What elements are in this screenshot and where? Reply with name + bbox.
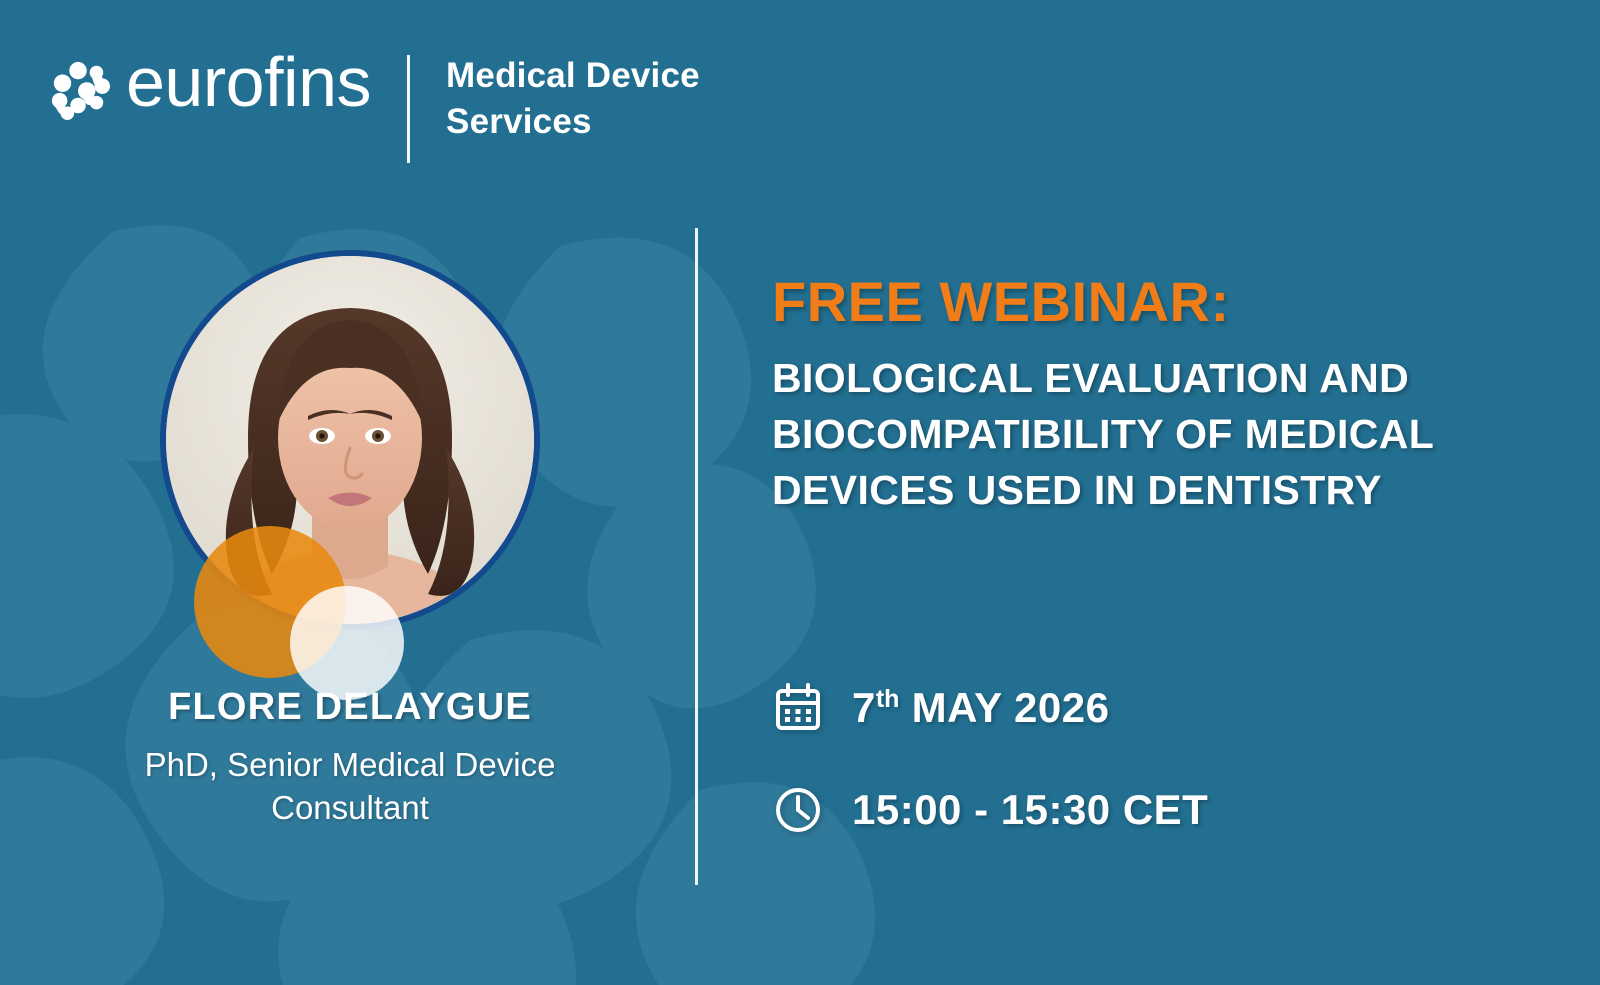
event-date-row: 7th MAY 2026 [772, 668, 1208, 748]
logo-divider [407, 55, 410, 163]
webinar-poster: eurofins Medical Device Services [0, 0, 1600, 985]
webinar-title-line-1: BIOLOGICAL EVALUATION AND [772, 350, 1532, 406]
division-name: Medical Device Services [446, 53, 700, 145]
eurofins-wordmark: eurofins [126, 45, 371, 119]
event-time-row: 15:00 - 15:30 CET [772, 770, 1208, 850]
event-time-text: 15:00 - 15:30 CET [852, 786, 1208, 834]
webinar-title-line-3: DEVICES USED IN DENTISTRY [772, 462, 1532, 518]
event-date-day: 7 [852, 684, 876, 731]
division-line-1: Medical Device [446, 53, 700, 99]
webinar-title: BIOLOGICAL EVALUATION AND BIOCOMPATIBILI… [772, 350, 1532, 518]
speaker-role-line-2: Consultant [60, 786, 640, 829]
speaker-role: PhD, Senior Medical Device Consultant [60, 743, 640, 829]
calendar-icon [772, 682, 824, 734]
free-webinar-eyebrow: FREE WEBINAR: [772, 272, 1532, 332]
event-details: 7th MAY 2026 15:00 - 15:30 CET [772, 668, 1208, 850]
brand-header: eurofins Medical Device Services [48, 45, 700, 163]
event-date-text: 7th MAY 2026 [852, 684, 1109, 732]
clock-icon [772, 784, 824, 836]
event-date-rest: MAY 2026 [912, 684, 1110, 731]
webinar-heading-block: FREE WEBINAR: BIOLOGICAL EVALUATION AND … [772, 272, 1532, 518]
eurofins-dots-logo-icon [48, 59, 110, 121]
decorative-white-circle [290, 586, 404, 700]
portrait-wrap [160, 250, 540, 630]
webinar-title-line-2: BIOCOMPATIBILITY OF MEDICAL [772, 406, 1532, 462]
center-divider [695, 228, 698, 885]
speaker-role-line-1: PhD, Senior Medical Device [60, 743, 640, 786]
speaker-block: FLORE DELAYGUE PhD, Senior Medical Devic… [60, 250, 640, 829]
event-date-ordinal: th [876, 685, 900, 713]
division-line-2: Services [446, 99, 700, 145]
